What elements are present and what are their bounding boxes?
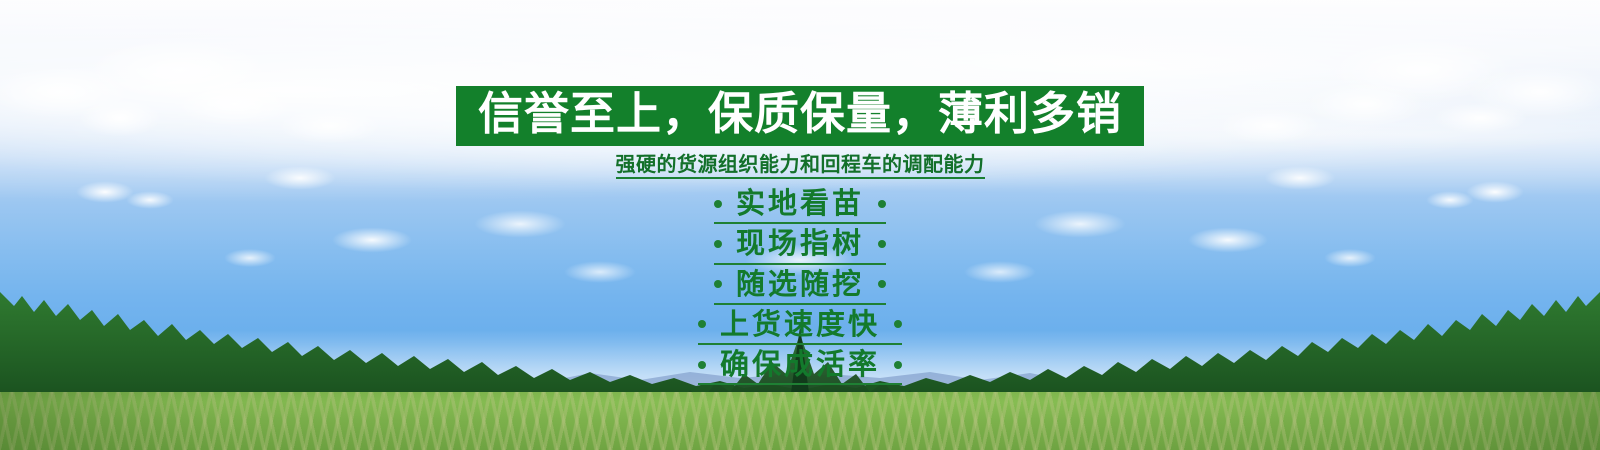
- feature-label: 上货速度快: [720, 309, 880, 340]
- bullet-dot-icon: [698, 361, 706, 369]
- bullet-dot-icon: [878, 200, 886, 208]
- bullet-dot-icon: [878, 240, 886, 248]
- headline-text: 信誉至上，保质保量，薄利多销: [478, 91, 1122, 137]
- feature-label: 现场指树: [736, 228, 864, 259]
- crop-field: [0, 392, 1600, 450]
- bullet-dot-icon: [894, 320, 902, 328]
- bullet-dot-icon: [698, 320, 706, 328]
- feature-list: 实地看苗 现场指树 随选随挖 上货速度快 确保成活率: [698, 187, 902, 389]
- bullet-dot-icon: [714, 240, 722, 248]
- bullet-dot-icon: [894, 361, 902, 369]
- promo-banner: 信誉至上，保质保量，薄利多销 强硬的货源组织能力和回程车的调配能力 实地看苗 现…: [0, 0, 1600, 450]
- feature-item: 现场指树: [714, 227, 886, 264]
- feature-item: 随选随挖: [714, 268, 886, 305]
- feature-item: 确保成活率: [698, 348, 902, 385]
- subtitle-text: 强硬的货源组织能力和回程车的调配能力: [616, 153, 985, 179]
- bullet-dot-icon: [714, 200, 722, 208]
- feature-label: 实地看苗: [736, 188, 864, 219]
- feature-label: 确保成活率: [720, 349, 880, 380]
- banner-content: 信誉至上，保质保量，薄利多销 强硬的货源组织能力和回程车的调配能力 实地看苗 现…: [0, 0, 1600, 388]
- bullet-dot-icon: [878, 280, 886, 288]
- feature-item: 实地看苗: [714, 187, 886, 224]
- field-shading: [0, 392, 1600, 450]
- bullet-dot-icon: [714, 280, 722, 288]
- feature-label: 随选随挖: [736, 269, 864, 300]
- feature-item: 上货速度快: [698, 308, 902, 345]
- headline-bar: 信誉至上，保质保量，薄利多销: [456, 86, 1144, 146]
